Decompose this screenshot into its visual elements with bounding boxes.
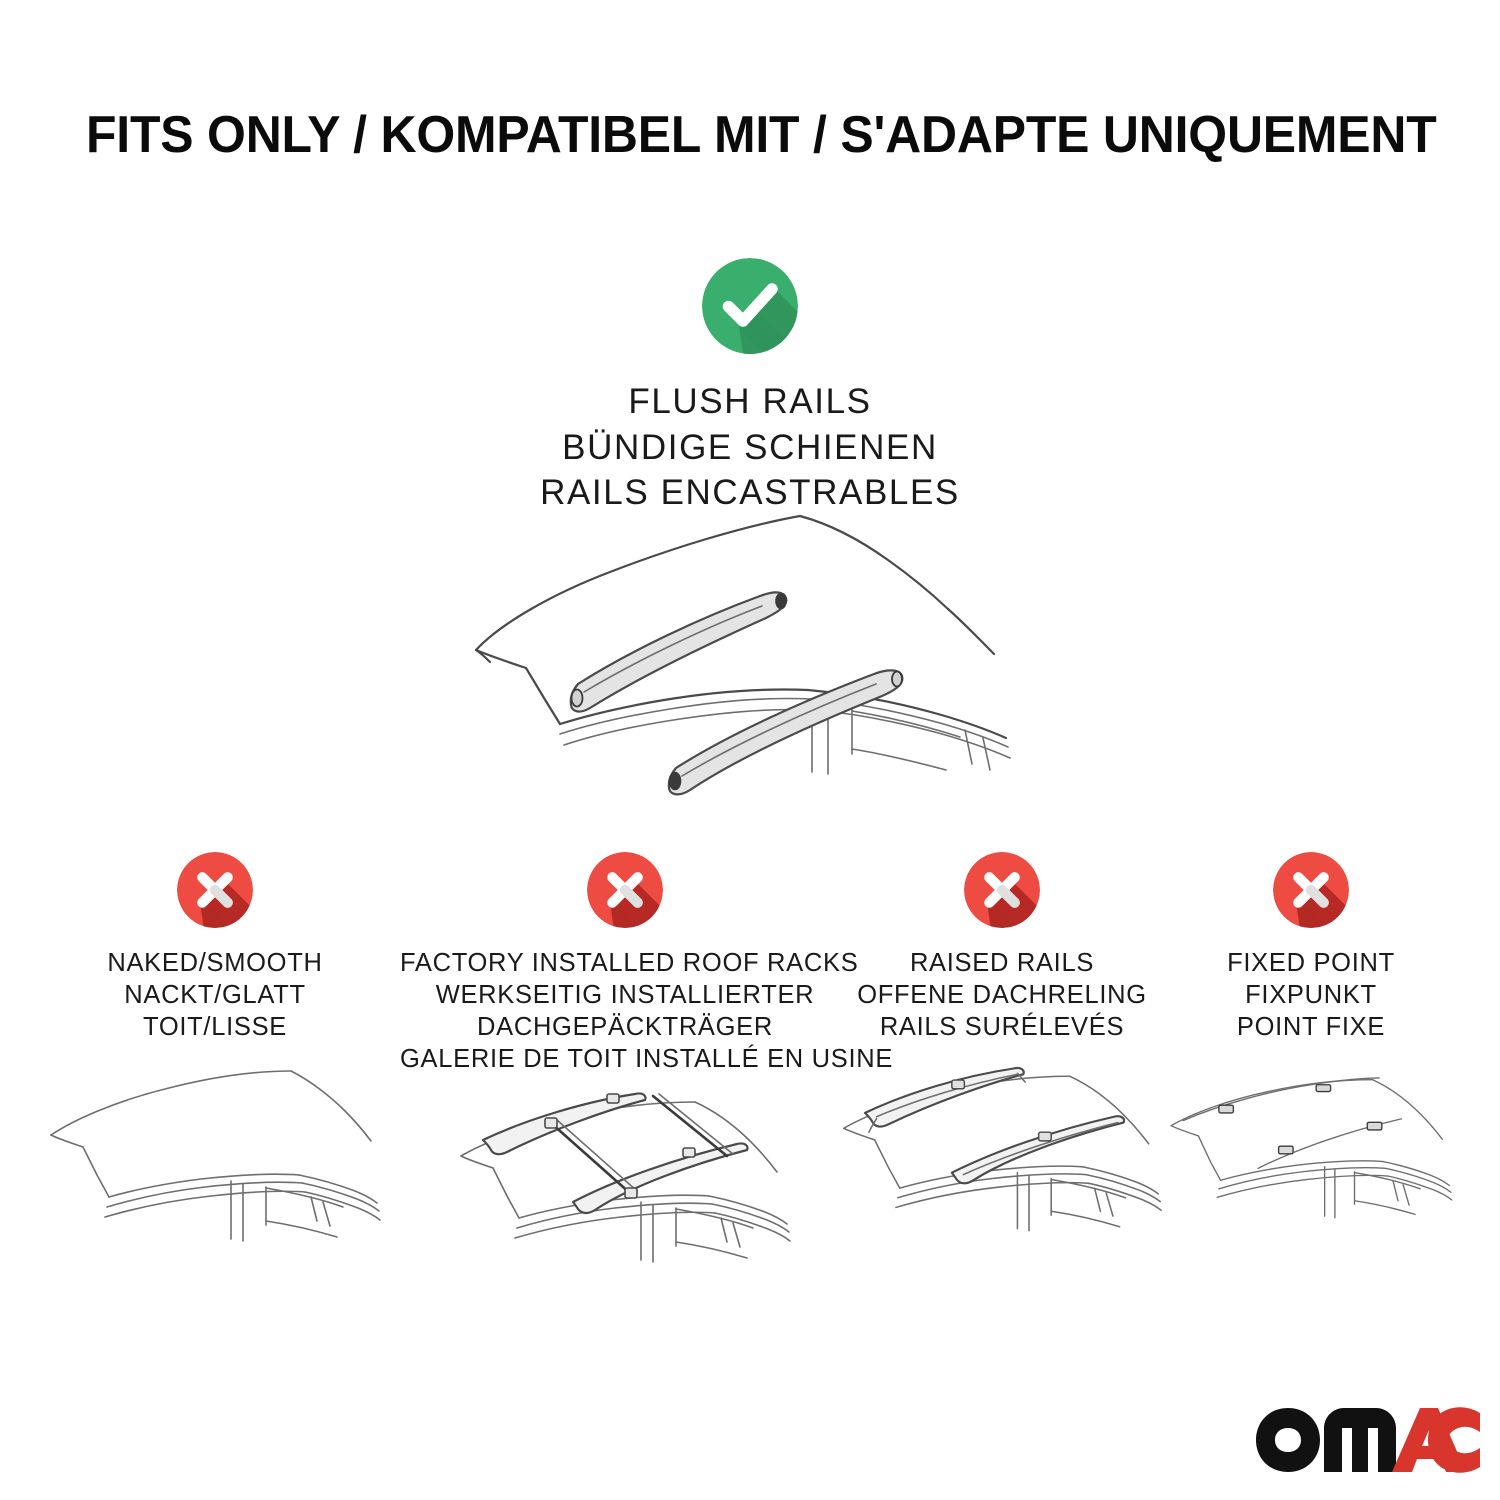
page-title: FITS ONLY / KOMPATIBEL MIT / S'ADAPTE UN… (86, 108, 1372, 163)
car-roof-with-raised-rails-illustration (838, 1057, 1166, 1272)
car-roof-with-flush-rails-illustration (460, 502, 1040, 802)
cross-circle-icon (1273, 852, 1349, 928)
cross-circle-icon (177, 852, 253, 928)
incompatible-sections: NAKED/SMOOTH NACKT/GLATT TOIT/LISSE (0, 852, 1500, 1292)
check-circle-icon (702, 258, 798, 354)
incompatible-labels: RAISED RAILS OFFENE DACHRELING RAILS SUR… (838, 947, 1166, 1043)
label-en: FACTORY INSTALLED ROOF RACKS (400, 947, 850, 979)
cross-circle-icon (587, 852, 663, 928)
label-fr: TOIT/LISSE (40, 1011, 390, 1043)
label-de: NACKT/GLATT (40, 979, 390, 1011)
incompatible-labels: FIXED POINT FIXPUNKT POINT FIXE (1166, 947, 1456, 1043)
incompatible-column-raised-rails: RAISED RAILS OFFENE DACHRELING RAILS SUR… (838, 852, 1166, 1272)
compatible-section: FLUSH RAILS BÜNDIGE SCHIENEN RAILS ENCAS… (0, 258, 1500, 516)
compatible-label-de: BÜNDIGE SCHIENEN (0, 425, 1500, 471)
label-de: FIXPUNKT (1166, 979, 1456, 1011)
label-fr: POINT FIXE (1166, 1011, 1456, 1043)
car-roof-with-fixed-points-illustration (1166, 1057, 1456, 1272)
label-en: FIXED POINT (1166, 947, 1456, 979)
incompatible-column-factory-racks: FACTORY INSTALLED ROOF RACKS WERKSEITIG … (400, 852, 850, 1305)
incompatible-labels: NAKED/SMOOTH NACKT/GLATT TOIT/LISSE (40, 947, 390, 1043)
label-de-1: WERKSEITIG INSTALLIERTER (400, 979, 850, 1011)
cross-circle-icon (964, 852, 1040, 928)
car-roof-bare-illustration (40, 1057, 390, 1272)
incompatible-column-fixed-point: FIXED POINT FIXPUNKT POINT FIXE (1166, 852, 1456, 1272)
incompatible-labels: FACTORY INSTALLED ROOF RACKS WERKSEITIG … (400, 947, 850, 1076)
label-fr: RAILS SURÉLEVÉS (838, 1011, 1166, 1043)
label-de: OFFENE DACHRELING (838, 979, 1166, 1011)
logo-letter-m (1324, 1408, 1396, 1472)
infographic-page: FITS ONLY / KOMPATIBEL MIT / S'ADAPTE UN… (0, 0, 1500, 1500)
label-fr: GALERIE DE TOIT INSTALLÉ EN USINE (400, 1043, 850, 1075)
label-en: RAISED RAILS (838, 947, 1166, 979)
logo-letter-o (1256, 1408, 1320, 1472)
omac-logo (1252, 1404, 1484, 1476)
incompatible-column-naked-smooth: NAKED/SMOOTH NACKT/GLATT TOIT/LISSE (40, 852, 390, 1272)
label-de-2: DACHGEPÄCKTRÄGER (400, 1011, 850, 1043)
compatible-labels: FLUSH RAILS BÜNDIGE SCHIENEN RAILS ENCAS… (0, 379, 1500, 516)
label-en: NAKED/SMOOTH (40, 947, 390, 979)
compatible-label-en: FLUSH RAILS (0, 379, 1500, 425)
car-roof-with-factory-crossbars-illustration (400, 1090, 850, 1305)
